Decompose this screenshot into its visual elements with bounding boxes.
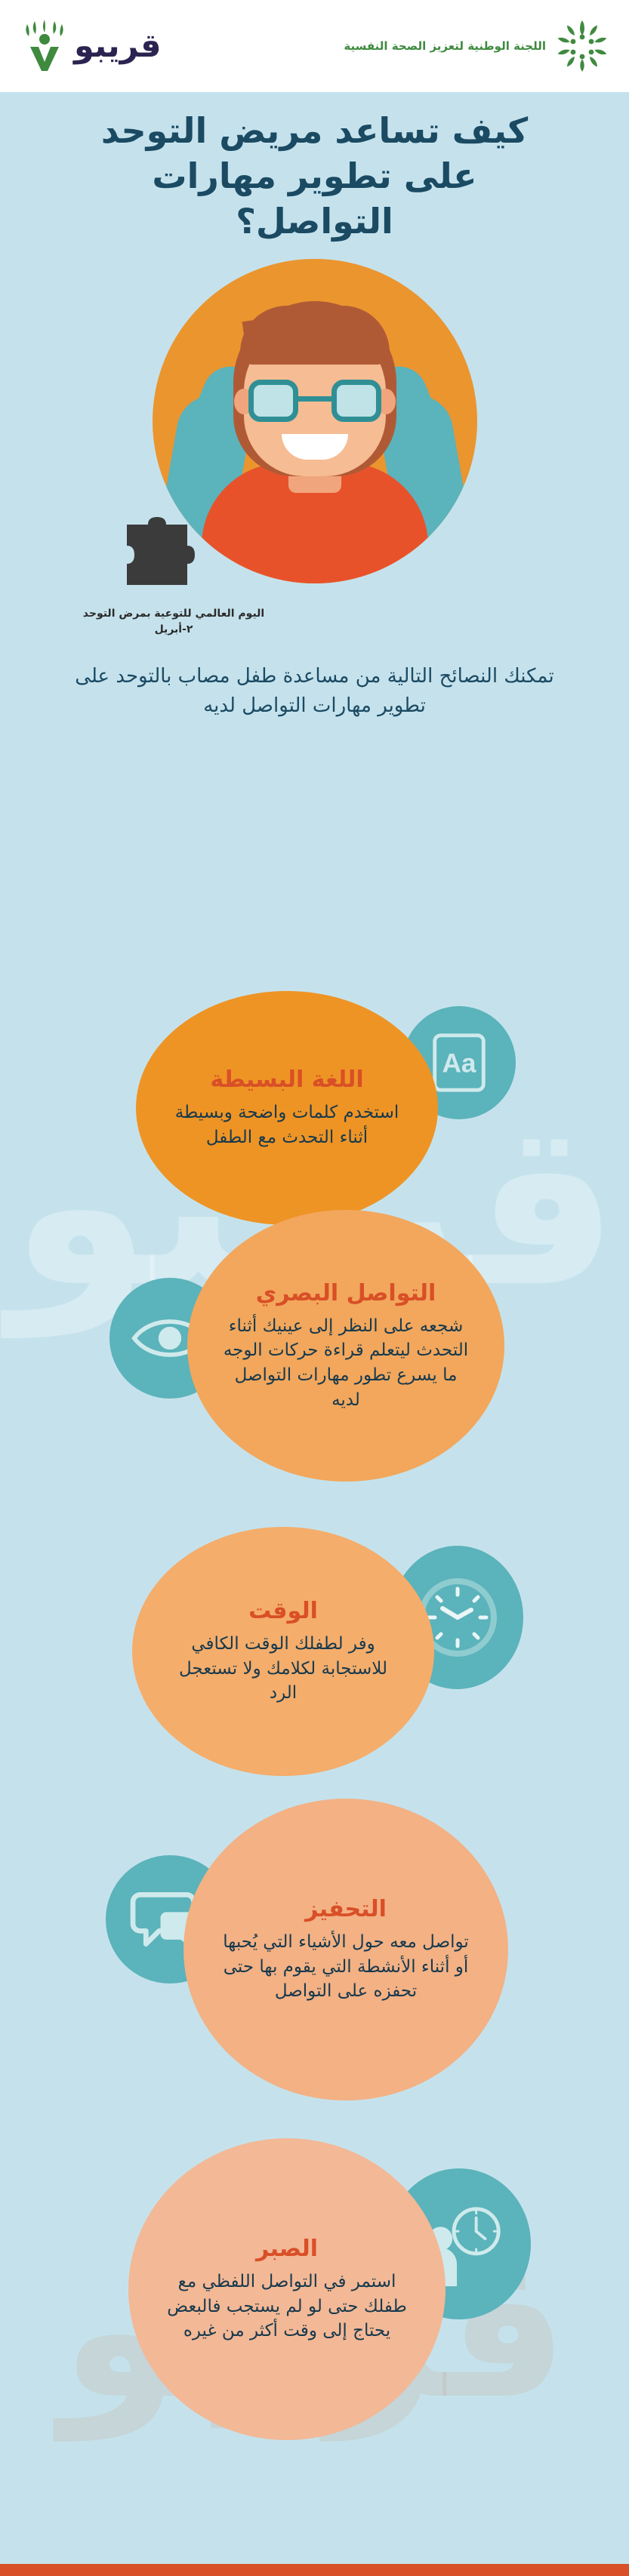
qaribo-logo-icon xyxy=(20,20,69,72)
glasses-lens-left xyxy=(248,380,298,422)
page-title: كيف تساعد مريض التوحد على تطوير مهارات ا… xyxy=(73,109,557,244)
tip-blob: التواصل البصري شجعه على النظر إلى عينيك … xyxy=(187,1210,504,1482)
tip-body: شجعه على النظر إلى عينيك أثناء التحدث لي… xyxy=(220,1314,471,1413)
tip-body: استمر في التواصل اللفظي مع طفلك حتى لو ل… xyxy=(162,2270,412,2344)
glasses-icon xyxy=(248,380,381,422)
tip-blob: الوقت وفر لطفلك الوقت الكافي للاستجابة ل… xyxy=(132,1527,434,1776)
hero-orange-circle xyxy=(153,259,477,583)
tip-title: الصبر xyxy=(256,2236,318,2262)
tip-blob: الصبر استمر في التواصل اللفظي مع طفلك حت… xyxy=(128,2138,446,2440)
national-mental-health-logo-icon xyxy=(555,19,609,73)
qaribo-logo-group[interactable]: قريبو xyxy=(20,20,162,72)
intro-paragraph: تمكنك النصائح التالية من مساعدة طفل مصاب… xyxy=(66,662,564,721)
hero-caption-line2: ٢-أبريل xyxy=(0,622,347,638)
footer-accent-bar xyxy=(0,2564,629,2576)
tip-title: الوقت xyxy=(248,1598,318,1624)
tip-title: التحفيز xyxy=(305,1896,387,1922)
svg-text:Aa: Aa xyxy=(442,1049,476,1079)
hero-illustration: اليوم العالمي للتوعية بمرض التوحد ٢-أبري… xyxy=(0,251,629,659)
national-committee-logo-group: اللجنة الوطنية لتعزيز الصحة النفسية xyxy=(344,19,609,73)
infographic-body: قريبو قريبو كيف تساعد مريض التوحد على تط… xyxy=(0,92,629,2576)
tip-blob: التحفيز تواصل معه حول الأشياء التي يُحبه… xyxy=(183,1799,508,2101)
tip-title: اللغة البسيطة xyxy=(210,1066,363,1093)
autism-puzzle-piece-icon xyxy=(113,517,198,602)
tip-body: وفر لطفلك الوقت الكافي للاستجابة لكلامك … xyxy=(165,1632,401,1706)
tip-title: التواصل البصري xyxy=(256,1280,436,1306)
hero-caption: اليوم العالمي للتوعية بمرض التوحد ٢-أبري… xyxy=(0,606,347,638)
national-committee-label: اللجنة الوطنية لتعزيز الصحة النفسية xyxy=(344,38,546,54)
glasses-lens-right xyxy=(331,380,381,422)
tip-body: استخدم كلمات واضحة وبسيطة أثناء التحدث م… xyxy=(169,1100,405,1150)
tip-body: تواصل معه حول الأشياء التي يُحبها أو أثن… xyxy=(217,1930,475,2004)
hero-caption-line1: اليوم العالمي للتوعية بمرض التوحد xyxy=(0,606,347,622)
glasses-bridge xyxy=(298,396,331,402)
qaribo-wordmark: قريبو xyxy=(74,27,162,65)
header-logo-bar: اللجنة الوطنية لتعزيز الصحة النفسية قريب… xyxy=(0,0,629,92)
tip-blob: اللغة البسيطة استخدم كلمات واضحة وبسيطة … xyxy=(136,991,438,1225)
